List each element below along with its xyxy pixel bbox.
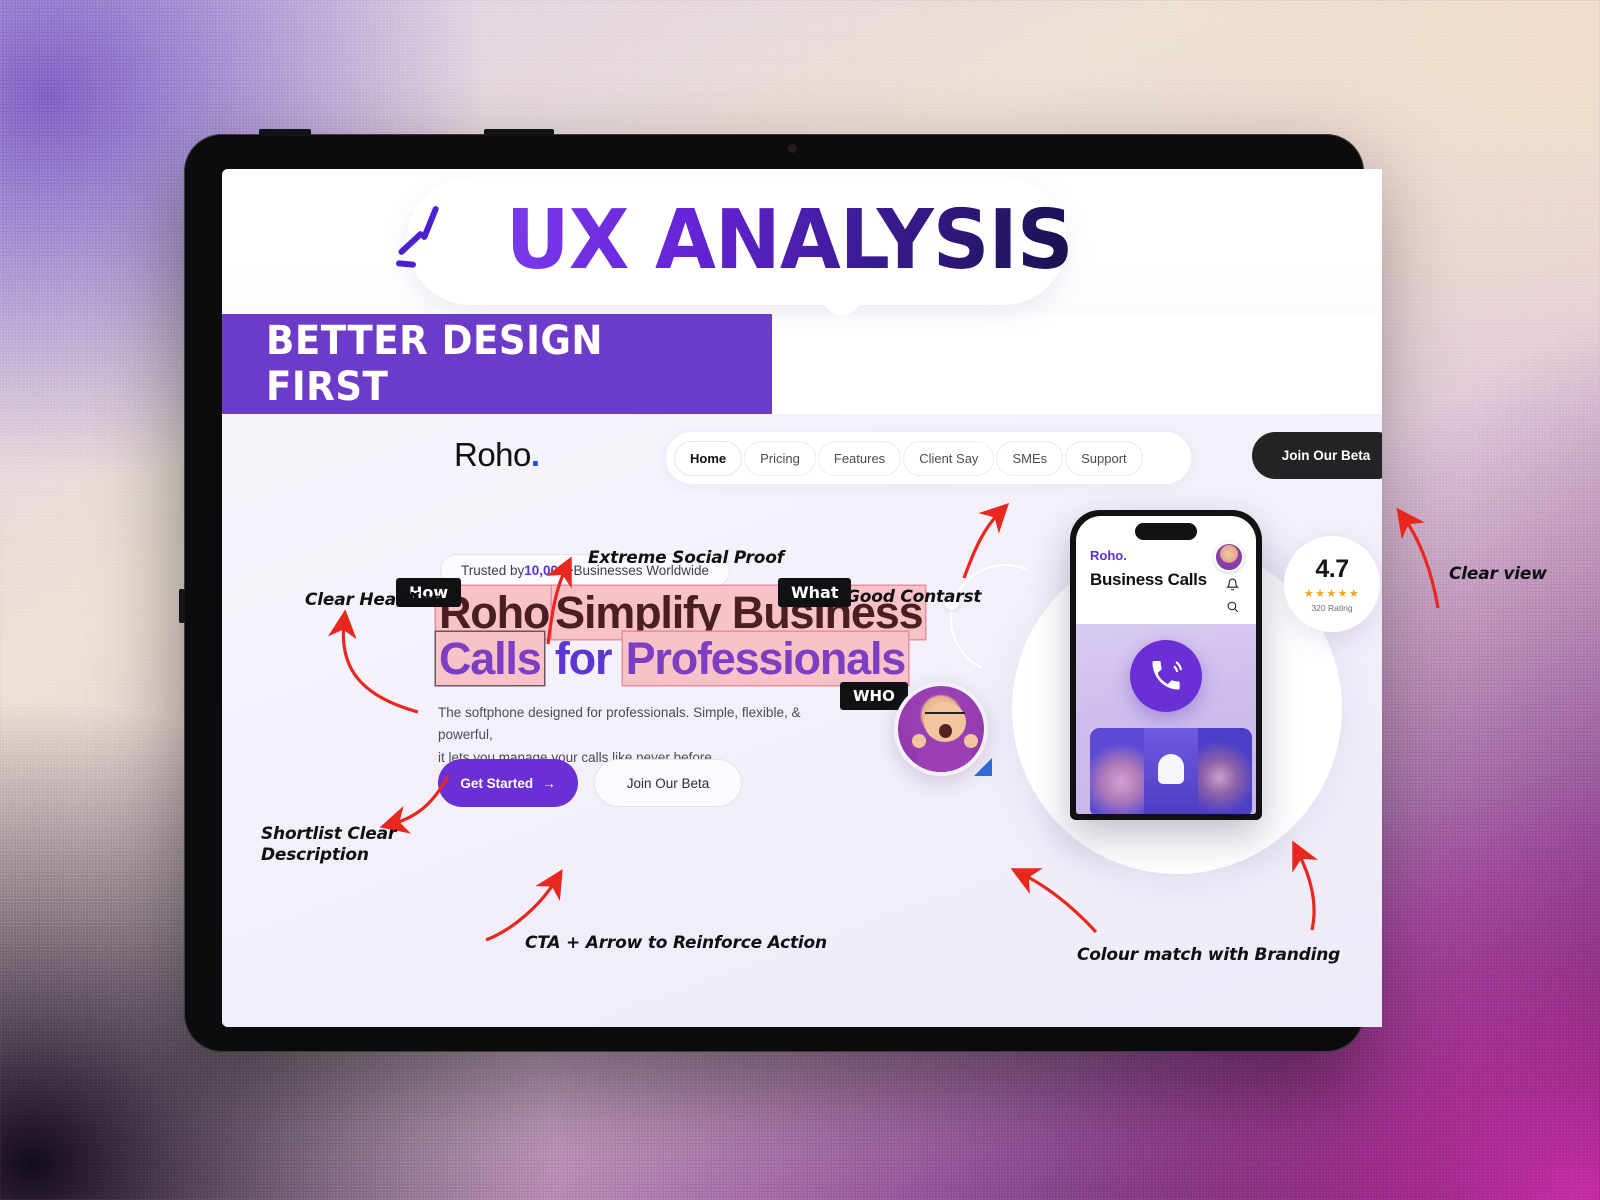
star-icon-group: ★★★★★	[1304, 587, 1360, 600]
rating-score: 4.7	[1315, 555, 1348, 584]
decorative-blue-corner	[974, 758, 992, 776]
tag-what: What	[778, 578, 851, 607]
ribbon-text: BETTER DESIGN FIRST	[266, 318, 737, 410]
nav-item-features[interactable]: Features	[818, 441, 901, 476]
site-logo-dot: .	[531, 436, 540, 473]
video-call-preview	[1090, 728, 1252, 814]
headline-word-for: for	[555, 633, 611, 684]
phone-mockup: Roho. Business Calls	[1070, 510, 1262, 820]
annotation-cta-arrow: CTA + Arrow to Reinforce Action	[525, 933, 827, 954]
poster-header: UX ANALYSIS	[222, 169, 1382, 314]
ghost-icon	[1158, 754, 1184, 784]
phone-body	[1076, 624, 1256, 814]
arrow-right-icon: →	[542, 776, 556, 791]
phone-avatar[interactable]	[1214, 542, 1244, 572]
avatar-mouth	[939, 724, 952, 738]
tag-who: WHO	[840, 682, 908, 710]
annotation-social-proof: Extreme Social Proof	[588, 548, 784, 569]
phone-header: Roho. Business Calls	[1076, 516, 1256, 598]
phone-screen: Roho. Business Calls	[1076, 516, 1256, 814]
tablet-button-left[interactable]	[179, 589, 185, 623]
nav-item-pricing[interactable]: Pricing	[744, 441, 816, 476]
get-started-button[interactable]: Get Started →	[438, 759, 578, 807]
hero-cta-row: Get Started → Join Our Beta	[438, 759, 742, 807]
nav-item-home[interactable]: Home	[674, 441, 742, 476]
trust-prefix: Trusted by	[461, 563, 524, 578]
nav-item-support[interactable]: Support	[1065, 441, 1143, 476]
avatar-body	[918, 740, 972, 776]
main-nav: Home Pricing Features Client Say SMEs Su…	[666, 432, 1191, 484]
nav-item-smes[interactable]: SMEs	[996, 441, 1063, 476]
get-started-label: Get Started	[460, 776, 533, 791]
glasses-icon	[925, 712, 965, 721]
nav-item-client-say[interactable]: Client Say	[903, 441, 994, 476]
tablet-button-top-2[interactable]	[484, 129, 554, 136]
video-participant-center	[1144, 728, 1198, 814]
phone-title: Business Calls	[1090, 570, 1242, 590]
poster-ribbon: BETTER DESIGN FIRST	[222, 314, 772, 414]
testimonial-avatar	[894, 682, 988, 776]
bell-icon[interactable]	[1226, 578, 1239, 594]
avatar-fist-right	[964, 734, 978, 748]
spark-icon	[396, 260, 416, 268]
header-join-beta-button[interactable]: Join Our Beta	[1252, 432, 1382, 479]
annotation-clear-view: Clear view	[1449, 564, 1547, 585]
call-icon[interactable]	[1130, 640, 1202, 712]
annotation-colour-match: Colour match with Branding	[1077, 945, 1340, 966]
headline-word-professionals: Professionals	[623, 632, 909, 685]
site-logo-text: Roho	[454, 436, 531, 473]
annotation-shortlist: Shortlist Clear Description	[261, 824, 421, 865]
rating-badge: 4.7 ★★★★★ 320 Rating	[1284, 536, 1380, 632]
camera-lens-icon	[788, 144, 797, 153]
video-participant-right	[1198, 728, 1252, 814]
poster-title: UX ANALYSIS	[506, 193, 1073, 288]
title-blob-tail	[822, 291, 862, 315]
tablet-button-top-1[interactable]	[259, 129, 311, 136]
annotation-clear-headline: Clear Headline	[305, 590, 443, 611]
trust-highlight: 10,000+	[524, 563, 573, 578]
join-beta-button[interactable]: Join Our Beta	[594, 759, 742, 807]
hero-subtext-line1: The softphone designed for professionals…	[438, 705, 800, 742]
search-icon[interactable]	[1226, 600, 1239, 616]
annotation-good-contrast: Good Contarst	[846, 587, 981, 608]
avatar-fist-left	[912, 734, 926, 748]
rating-caption: 320 Rating	[1311, 603, 1352, 613]
headline-word-calls: Calls	[436, 632, 544, 685]
site-logo[interactable]: Roho.	[454, 436, 540, 474]
video-participant-left	[1090, 728, 1144, 814]
